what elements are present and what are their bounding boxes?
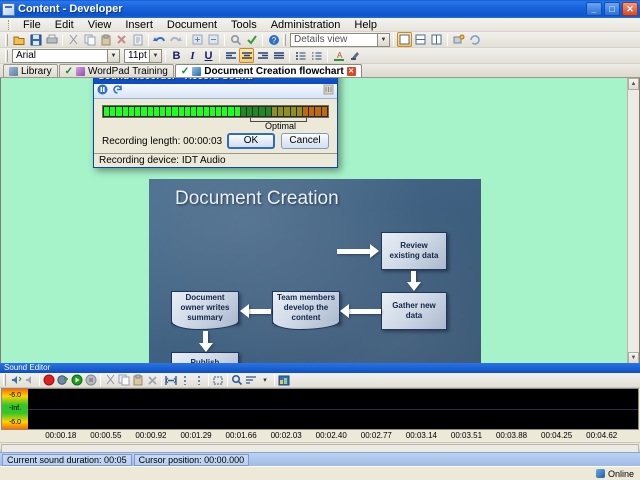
dialog-toolbar bbox=[94, 84, 337, 99]
close-button[interactable]: ✕ bbox=[622, 2, 638, 16]
meter-segment bbox=[291, 107, 296, 116]
undo-icon[interactable] bbox=[152, 32, 167, 47]
zoom-in-icon[interactable] bbox=[190, 32, 205, 47]
meter-segment bbox=[278, 107, 283, 116]
sound-toolbar-grip[interactable] bbox=[3, 374, 6, 386]
align-left-icon[interactable] bbox=[223, 48, 238, 63]
online-icon bbox=[596, 469, 605, 478]
ruler-tick: 00:02.40 bbox=[316, 431, 347, 440]
toolbar-separator bbox=[148, 34, 149, 46]
sound-editor-statusbar: Current sound duration: 00:05 Cursor pos… bbox=[0, 452, 640, 466]
meter-segment bbox=[166, 107, 171, 116]
check-icon: ✓ bbox=[181, 66, 189, 77]
italic-label: I bbox=[190, 50, 194, 62]
timeline-ruler[interactable]: 00:00.1800:00.5500:00.9200:01.2900:01.66… bbox=[0, 430, 640, 443]
close-icon[interactable]: ✕ bbox=[347, 67, 356, 76]
zoom-out-icon[interactable] bbox=[206, 32, 221, 47]
single-pane-icon[interactable] bbox=[397, 32, 412, 47]
underline-button[interactable]: U bbox=[201, 48, 216, 63]
meter-segment bbox=[266, 107, 271, 116]
record-icon[interactable] bbox=[42, 373, 56, 387]
meter-segment bbox=[154, 107, 159, 116]
document-canvas: Document Creation Review existing data G… bbox=[0, 78, 640, 365]
menu-administration[interactable]: Administration bbox=[264, 18, 348, 32]
ruler-tick: 00:03.14 bbox=[406, 431, 437, 440]
connection-status: Online bbox=[608, 469, 634, 479]
status-cursor-position: Cursor position: 00:00.000 bbox=[134, 454, 250, 466]
toolbar-separator bbox=[262, 34, 263, 46]
grip-icon bbox=[323, 84, 334, 98]
maximize-button[interactable]: □ bbox=[604, 2, 620, 16]
meter-segment bbox=[241, 107, 246, 116]
delete-icon[interactable] bbox=[145, 373, 159, 387]
meter-segment bbox=[141, 107, 146, 116]
dialog-body: Optimal Recording length: 00:00:03 OK Ca… bbox=[94, 99, 337, 149]
svg-text:?: ? bbox=[271, 36, 276, 45]
meter-segment bbox=[272, 107, 277, 116]
meter-segment bbox=[222, 107, 227, 116]
grid-icon[interactable] bbox=[192, 373, 206, 387]
horizontal-split-icon[interactable] bbox=[413, 32, 428, 47]
ruler-tick: 00:00.55 bbox=[90, 431, 121, 440]
meter-segment bbox=[204, 107, 209, 116]
ruler-tick: 00:03.51 bbox=[451, 431, 482, 440]
window-title: Content - Developer bbox=[18, 3, 586, 15]
meter-segment bbox=[172, 107, 177, 116]
tab-label: WordPad Training bbox=[88, 66, 168, 77]
slide-title: Document Creation bbox=[175, 188, 339, 210]
levels-icon[interactable] bbox=[244, 373, 258, 387]
record-append-icon[interactable] bbox=[56, 373, 70, 387]
window-titlebar: Content - Developer _ □ ✕ bbox=[0, 0, 640, 18]
pause-icon[interactable] bbox=[97, 84, 108, 98]
font-family-value: Arial bbox=[16, 50, 36, 61]
open-icon[interactable] bbox=[12, 32, 27, 47]
arrow-head-left bbox=[240, 304, 249, 318]
window-controls: _ □ ✕ bbox=[586, 2, 638, 16]
ruler-tick: 00:00.92 bbox=[135, 431, 166, 440]
format-toolbar-grip[interactable] bbox=[5, 50, 8, 62]
underline-label: U bbox=[205, 50, 213, 62]
flow-box-review-existing-data[interactable]: Review existing data bbox=[381, 232, 447, 270]
toolbar-separator bbox=[208, 374, 209, 386]
flow-box-label: Review existing data bbox=[384, 241, 444, 261]
meter-segment bbox=[210, 107, 215, 116]
db-label: -6.0 bbox=[9, 392, 21, 399]
check-icon: ✓ bbox=[65, 66, 73, 77]
toolbar-separator bbox=[62, 34, 63, 46]
toolbar-separator bbox=[165, 50, 166, 62]
dialog-actions-row: Recording length: 00:00:03 OK Cancel bbox=[102, 133, 329, 149]
meter-segment bbox=[284, 107, 289, 116]
ruler-tick: 00:02.03 bbox=[271, 431, 302, 440]
flow-box-team-members-develop-content[interactable]: Team members develop the content bbox=[272, 291, 340, 324]
toolbar-separator bbox=[393, 34, 394, 46]
arrow-start-to-review bbox=[337, 249, 371, 254]
recording-device-status: Recording device: IDT Audio bbox=[94, 153, 337, 167]
menu-help[interactable]: Help bbox=[347, 18, 384, 32]
toolbar-separator bbox=[227, 374, 228, 386]
toolbar-separator bbox=[100, 374, 101, 386]
meter-segment bbox=[185, 107, 190, 116]
chevron-down-icon[interactable]: ▼ bbox=[377, 34, 389, 46]
ruler-tick: 00:03.88 bbox=[496, 431, 527, 440]
numbered-list-icon[interactable] bbox=[309, 48, 324, 63]
meter-segment bbox=[129, 107, 134, 116]
meter-segment bbox=[297, 107, 302, 116]
edit-properties-icon[interactable] bbox=[451, 32, 466, 47]
menu-document[interactable]: Document bbox=[160, 18, 224, 32]
document-icon bbox=[76, 67, 85, 76]
delete-icon[interactable] bbox=[114, 32, 129, 47]
marker-icon[interactable] bbox=[178, 373, 192, 387]
app-icon bbox=[2, 3, 15, 16]
application-window: Content - Developer _ □ ✕ File Edit View… bbox=[0, 0, 640, 480]
bold-button[interactable]: B bbox=[169, 48, 184, 63]
chevron-down-icon[interactable]: ▼ bbox=[149, 50, 161, 62]
meter-segment bbox=[135, 107, 140, 116]
arrow-head-left bbox=[340, 304, 349, 318]
minimize-button[interactable]: _ bbox=[586, 2, 602, 16]
flowchart-slide[interactable]: Document Creation Review existing data G… bbox=[149, 179, 481, 364]
copy-icon[interactable] bbox=[117, 373, 131, 387]
sound-editor-panel: Sound Editor ▾ bbox=[0, 363, 640, 449]
bold-label: B bbox=[173, 50, 181, 62]
arrow-team-to-owner bbox=[249, 309, 271, 314]
recording-length-label: Recording length: bbox=[102, 136, 180, 147]
db-label: -Inf. bbox=[9, 405, 21, 412]
flow-box-label: Gather new data bbox=[384, 301, 444, 321]
meter-segment bbox=[259, 107, 264, 116]
flow-box-label: Document owner writes summary bbox=[174, 293, 236, 323]
play-icon[interactable] bbox=[70, 373, 84, 387]
meter-segment bbox=[309, 107, 314, 116]
print-icon[interactable] bbox=[44, 32, 59, 47]
fit-selection-icon[interactable] bbox=[164, 373, 178, 387]
properties-icon[interactable] bbox=[130, 32, 145, 47]
vertical-split-icon[interactable] bbox=[429, 32, 444, 47]
application-statusbar: Online bbox=[0, 466, 640, 480]
menu-tools[interactable]: Tools bbox=[224, 18, 264, 32]
meter-segment bbox=[160, 107, 165, 116]
view-select-value: Details view bbox=[294, 34, 347, 45]
zoom-icon[interactable] bbox=[230, 373, 244, 387]
arrow-head-down bbox=[407, 282, 421, 291]
tab-label: Library bbox=[21, 66, 52, 77]
standard-toolbar: ? Details view ▼ bbox=[0, 32, 640, 48]
ruler-tick: 00:01.66 bbox=[226, 431, 257, 440]
sound-editor-toolbar: ▾ bbox=[0, 373, 640, 388]
status-duration: Current sound duration: 00:05 bbox=[2, 454, 132, 466]
meter-segment bbox=[179, 107, 184, 116]
dropdown-icon[interactable]: ▾ bbox=[258, 373, 272, 387]
paste-icon[interactable] bbox=[131, 373, 145, 387]
cancel-button[interactable]: Cancel bbox=[281, 133, 329, 149]
cut-icon[interactable] bbox=[66, 32, 81, 47]
ruler-gutter bbox=[0, 430, 27, 442]
font-size-value: 11pt bbox=[128, 50, 147, 61]
properties-icon[interactable] bbox=[277, 373, 291, 387]
meter-segment bbox=[253, 107, 258, 116]
crop-icon[interactable] bbox=[211, 373, 225, 387]
font-color-icon[interactable]: A bbox=[331, 48, 346, 63]
align-center-icon[interactable] bbox=[239, 48, 254, 63]
redo-icon[interactable] bbox=[168, 32, 183, 47]
tab-library[interactable]: Library bbox=[3, 64, 58, 77]
waveform-midline bbox=[28, 409, 638, 410]
spellcheck-icon[interactable] bbox=[244, 32, 259, 47]
meter-segment bbox=[104, 107, 109, 116]
font-size-select[interactable]: 11pt ▼ bbox=[124, 49, 162, 63]
toolbar-separator bbox=[219, 50, 220, 62]
meter-segment bbox=[191, 107, 196, 116]
menu-grip[interactable] bbox=[8, 20, 11, 30]
ok-button[interactable]: OK bbox=[227, 133, 275, 149]
meter-segment bbox=[116, 107, 121, 116]
toolbar-separator bbox=[274, 374, 275, 386]
meter-segment bbox=[322, 107, 327, 116]
sound-recorder-dialog[interactable]: Sound Recorder - Record Sound bbox=[93, 78, 338, 168]
align-right-icon[interactable] bbox=[255, 48, 270, 63]
find-icon[interactable] bbox=[228, 32, 243, 47]
menu-insert[interactable]: Insert bbox=[118, 18, 160, 32]
menu-view[interactable]: View bbox=[81, 18, 119, 32]
copy-icon[interactable] bbox=[82, 32, 97, 47]
flowchart-icon bbox=[192, 67, 201, 76]
help-icon[interactable]: ? bbox=[266, 32, 281, 47]
arrow-head-down bbox=[199, 343, 213, 352]
ruler-tick: 00:04.25 bbox=[541, 431, 572, 440]
insert-sound-icon[interactable] bbox=[9, 373, 23, 387]
waveform-canvas[interactable] bbox=[28, 389, 638, 429]
document-tabs: Library ✓ WordPad Training ✓ Document Cr… bbox=[0, 64, 640, 78]
cut-icon[interactable] bbox=[103, 373, 117, 387]
toolbar-separator bbox=[186, 34, 187, 46]
toolbar-separator bbox=[161, 374, 162, 386]
remove-sound-icon[interactable] bbox=[23, 373, 37, 387]
meter-segment bbox=[235, 107, 240, 116]
toolbar-grip[interactable] bbox=[5, 34, 8, 46]
meter-segment bbox=[315, 107, 320, 116]
waveform-view[interactable]: -6.0 -Inf. -6.0 bbox=[1, 388, 639, 430]
toolbar-separator bbox=[447, 34, 448, 46]
flow-box-gather-new-data[interactable]: Gather new data bbox=[381, 292, 447, 330]
meter-segment bbox=[247, 107, 252, 116]
tab-label: Document Creation flowchart bbox=[204, 66, 343, 77]
menu-edit[interactable]: Edit bbox=[48, 18, 81, 32]
menu-bar: File Edit View Insert Document Tools Adm… bbox=[0, 18, 640, 32]
meter-segment bbox=[110, 107, 115, 116]
format-toolbar: Arial ▼ 11pt ▼ B I U A bbox=[0, 48, 640, 64]
save-icon[interactable] bbox=[28, 32, 43, 47]
meter-segment bbox=[197, 107, 202, 116]
toolbar-grip-2[interactable] bbox=[283, 34, 286, 46]
ruler-tick: 00:01.29 bbox=[180, 431, 211, 440]
menu-file[interactable]: File bbox=[16, 18, 48, 32]
toolbar-separator bbox=[39, 374, 40, 386]
ruler-ticks: 00:00.1800:00.5500:00.9200:01.2900:01.66… bbox=[27, 430, 640, 442]
svg-text:A: A bbox=[337, 51, 343, 60]
meter-segment bbox=[148, 107, 153, 116]
sound-editor-title: Sound Editor bbox=[0, 363, 640, 373]
dialog-buttons: OK Cancel bbox=[227, 133, 329, 149]
view-select[interactable]: Details view ▼ bbox=[290, 33, 390, 47]
level-meter bbox=[102, 105, 329, 118]
toolbar-separator bbox=[327, 50, 328, 62]
arrow-gather-to-team bbox=[349, 309, 381, 314]
highlight-icon[interactable] bbox=[347, 48, 362, 63]
chevron-down-icon[interactable]: ▼ bbox=[107, 50, 119, 62]
dialog-title: Sound Recorder - Record Sound bbox=[98, 78, 253, 82]
bullet-list-icon[interactable] bbox=[293, 48, 308, 63]
recording-length-value: 00:00:03 bbox=[183, 136, 222, 147]
document-vertical-scrollbar[interactable]: ▲ ▼ bbox=[627, 78, 639, 364]
stop-icon[interactable] bbox=[84, 373, 98, 387]
scroll-up-icon[interactable]: ▲ bbox=[628, 78, 639, 90]
db-label: -6.0 bbox=[9, 419, 21, 426]
toolbar-separator bbox=[289, 50, 290, 62]
refresh-icon[interactable] bbox=[467, 32, 482, 47]
italic-button[interactable]: I bbox=[185, 48, 200, 63]
restart-icon[interactable] bbox=[112, 84, 123, 98]
tab-document-creation-flowchart[interactable]: ✓ Document Creation flowchart ✕ bbox=[175, 64, 362, 77]
ruler-tick: 00:00.18 bbox=[45, 431, 76, 440]
db-scale: -6.0 -Inf. -6.0 bbox=[2, 389, 28, 429]
meter-segment bbox=[228, 107, 233, 116]
meter-segment bbox=[216, 107, 221, 116]
library-icon bbox=[9, 67, 18, 76]
meter-segment bbox=[303, 107, 308, 116]
document-pane[interactable]: Document Creation Review existing data G… bbox=[1, 78, 627, 364]
font-family-select[interactable]: Arial ▼ bbox=[12, 49, 120, 63]
ruler-tick: 00:04.62 bbox=[586, 431, 617, 440]
toolbar-separator bbox=[224, 34, 225, 46]
optimal-label: Optimal bbox=[252, 121, 309, 131]
recording-length: Recording length: 00:00:03 bbox=[102, 136, 222, 147]
ruler-tick: 00:02.77 bbox=[361, 431, 392, 440]
align-justify-icon[interactable] bbox=[271, 48, 286, 63]
paste-icon[interactable] bbox=[98, 32, 113, 47]
flow-box-document-owner-writes-summary[interactable]: Document owner writes summary bbox=[171, 291, 239, 324]
tab-wordpad-training[interactable]: ✓ WordPad Training bbox=[59, 64, 174, 77]
arrow-head-right bbox=[370, 244, 379, 258]
meter-segment bbox=[123, 107, 128, 116]
optimal-range-marker: Optimal bbox=[102, 118, 329, 132]
flow-box-label: Team members develop the content bbox=[275, 293, 337, 323]
